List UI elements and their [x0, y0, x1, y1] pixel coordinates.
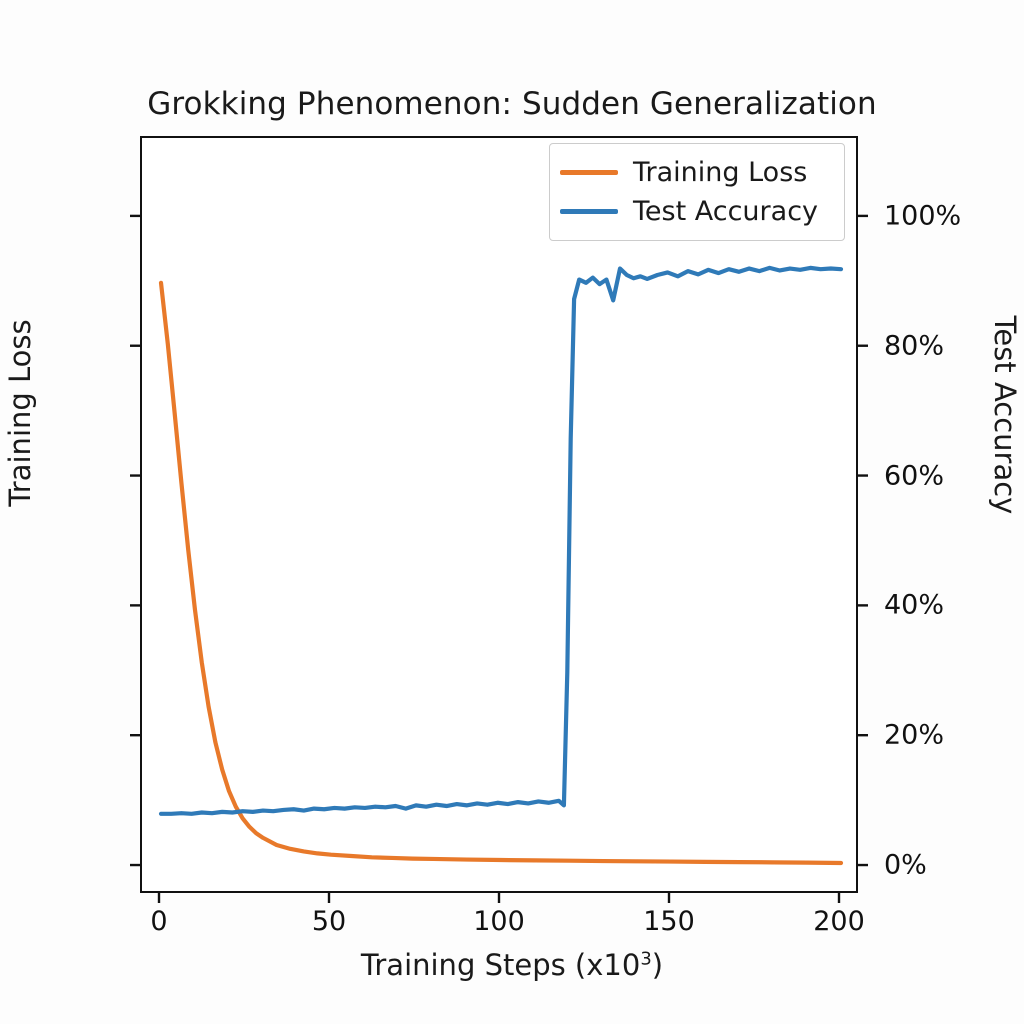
- legend-swatch-test-accuracy: [560, 209, 618, 214]
- x-tick-label-3: 150: [643, 906, 695, 937]
- series-line-test-accuracy: [161, 268, 841, 814]
- legend-swatch-training-loss: [560, 170, 618, 175]
- chart-page: Grokking Phenomenon: Sudden Generalizati…: [0, 0, 1024, 1024]
- y-axis-right-label: Test Accuracy: [988, 95, 1022, 735]
- y-tick-label-right-0: 0%: [884, 850, 927, 881]
- y-axis-left-label: Training Loss: [3, 93, 37, 733]
- plot-area: [140, 136, 858, 893]
- y-tick-label-right-1: 20%: [884, 720, 944, 751]
- x-tick-label-2: 100: [473, 906, 525, 937]
- series-line-training-loss: [161, 283, 841, 863]
- x-tick-label-0: 0: [150, 906, 167, 937]
- plot-lines: [142, 138, 856, 891]
- y-tick-label-right-4: 80%: [884, 330, 944, 361]
- chart-title: Grokking Phenomenon: Sudden Generalizati…: [0, 86, 1024, 122]
- x-tick-label-4: 200: [813, 906, 865, 937]
- x-axis-label: Training Steps (x103): [0, 948, 1024, 982]
- legend-label-test-accuracy: Test Accuracy: [633, 196, 818, 227]
- legend-label-training-loss: Training Loss: [633, 157, 807, 188]
- legend-item-test-accuracy: Test Accuracy: [560, 192, 832, 231]
- x-axis-label-exponent: 3: [640, 948, 651, 969]
- y-tick-label-right-3: 60%: [884, 460, 944, 491]
- chart-legend: Training Loss Test Accuracy: [549, 143, 845, 241]
- y-tick-label-right-5: 100%: [884, 200, 961, 231]
- legend-item-training-loss: Training Loss: [560, 153, 832, 192]
- x-axis-label-tail: ): [652, 948, 663, 982]
- y-tick-label-right-2: 40%: [884, 590, 944, 621]
- x-axis-label-main: Training Steps (x10: [361, 948, 640, 982]
- x-tick-label-1: 50: [312, 906, 346, 937]
